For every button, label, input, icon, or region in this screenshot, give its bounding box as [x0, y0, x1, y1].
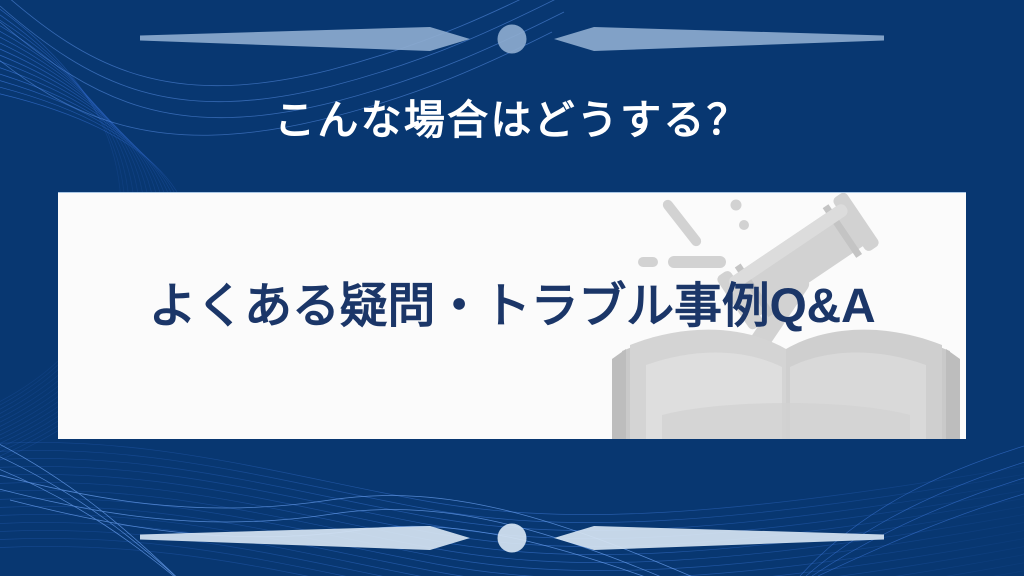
divider-right-arrow: [554, 526, 884, 550]
divider-center-circle: [498, 25, 527, 54]
divider-left-arrow: [140, 526, 470, 550]
page-title: こんな場合はどうする？: [0, 96, 1024, 144]
divider-center-circle: [498, 524, 527, 553]
bottom-divider: [0, 518, 1024, 558]
content-card: よくある疑問・トラブル事例Q&A: [58, 192, 966, 439]
divider-left-arrow: [140, 27, 470, 51]
top-divider: [0, 19, 1024, 59]
impact-marks: [638, 198, 749, 268]
divider-right-arrow: [554, 27, 884, 51]
slide-canvas: こんな場合はどうする？: [0, 0, 1024, 576]
open-book: [612, 330, 960, 439]
card-heading: よくある疑問・トラブル事例Q&A: [58, 281, 966, 334]
